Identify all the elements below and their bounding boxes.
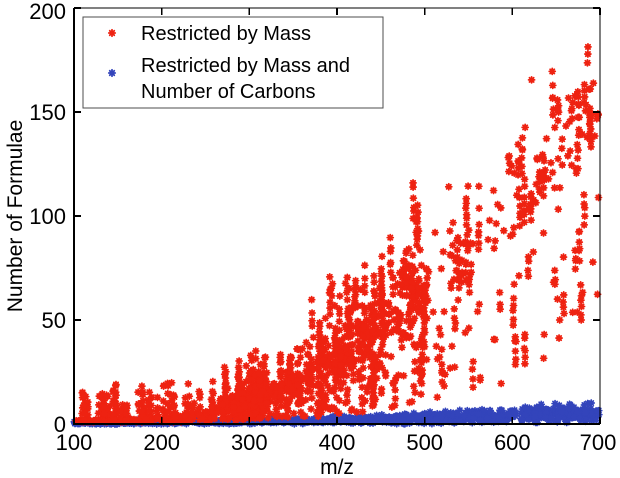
x-tick-label-600: 600 xyxy=(494,430,531,455)
x-tick-label-300: 300 xyxy=(231,430,268,455)
chart-canvas: 100 200 300 400 500 600 700 0 50 100 150… xyxy=(0,0,620,478)
x-tick-label-700: 700 xyxy=(580,430,617,455)
y-tick-label-100: 100 xyxy=(29,204,66,229)
x-tick-label-400: 400 xyxy=(319,430,356,455)
x-axis-title: m/z xyxy=(320,456,354,478)
x-tick-label-200: 200 xyxy=(143,430,180,455)
legend-marker-restricted-by-mass-and-carbons-icon xyxy=(109,70,115,76)
legend-marker-restricted-by-mass-icon xyxy=(109,30,115,36)
x-tick-label-500: 500 xyxy=(406,430,443,455)
legend-label-restricted-by-mass: Restricted by Mass xyxy=(141,23,311,45)
y-axis-title: Number of Formulae xyxy=(4,120,27,313)
legend-label-restricted-by-mass-and-carbons-line2: Number of Carbons xyxy=(141,81,316,103)
chart-legend: Restricted by Mass Restricted by Mass an… xyxy=(83,17,383,108)
legend-label-restricted-by-mass-and-carbons-line1: Restricted by Mass and xyxy=(141,55,350,77)
y-tick-label-0: 0 xyxy=(54,412,66,437)
scatter-plot-figure: 100 200 300 400 500 600 700 0 50 100 150… xyxy=(0,0,620,478)
y-tick-label-50: 50 xyxy=(42,308,66,333)
y-tick-label-150: 150 xyxy=(29,100,66,125)
y-tick-label-200: 200 xyxy=(29,0,66,24)
